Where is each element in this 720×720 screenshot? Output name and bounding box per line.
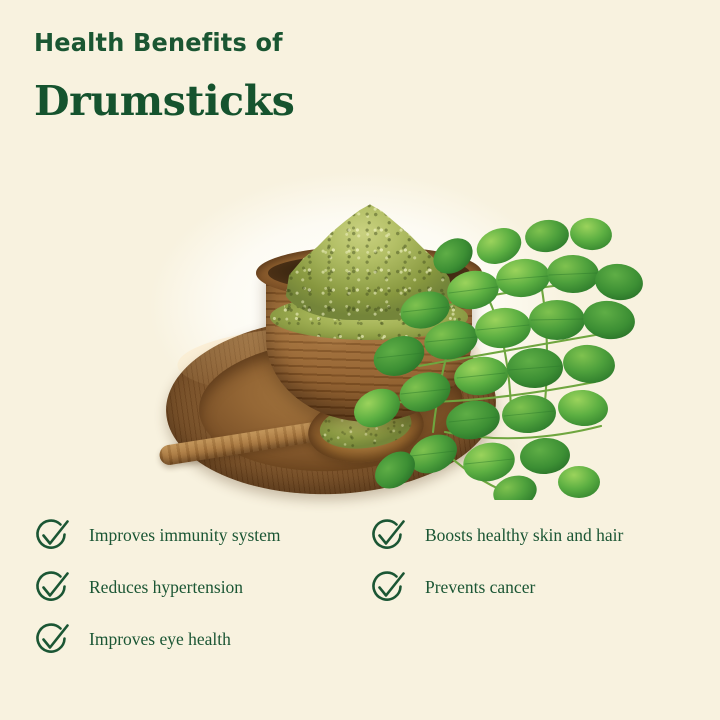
benefit-item[interactable]: Boosts healthy skin and hair xyxy=(366,510,623,562)
circle-check-icon xyxy=(30,515,72,557)
circle-check-icon xyxy=(366,515,408,557)
product-photo xyxy=(78,140,648,500)
circle-check-icon xyxy=(30,619,72,661)
heading-block: Health Benefits of Drumsticks xyxy=(34,30,294,122)
circle-check-icon xyxy=(366,567,408,609)
moringa-leaves xyxy=(333,170,653,500)
benefit-label: Prevents cancer xyxy=(425,579,535,597)
infographic-page: Health Benefits of Drumsticks xyxy=(0,0,720,720)
circle-check-icon xyxy=(30,567,72,609)
benefit-label: Boosts healthy skin and hair xyxy=(425,527,623,545)
benefit-item[interactable]: Prevents cancer xyxy=(366,562,623,614)
benefit-item[interactable]: Improves immunity system xyxy=(30,510,281,562)
eyebrow-text: Health Benefits of xyxy=(34,30,284,55)
page-title: Drumsticks xyxy=(34,81,294,122)
benefit-label: Reduces hypertension xyxy=(89,579,243,597)
benefit-label: Improves immunity system xyxy=(89,527,281,545)
benefit-item[interactable]: Reduces hypertension xyxy=(30,562,281,614)
benefits-column-left: Improves immunity system Reduces hyperte… xyxy=(30,510,281,666)
benefits-column-right: Boosts healthy skin and hair Prevents ca… xyxy=(366,510,623,614)
benefit-label: Improves eye health xyxy=(89,631,231,649)
benefit-item[interactable]: Improves eye health xyxy=(30,614,281,666)
